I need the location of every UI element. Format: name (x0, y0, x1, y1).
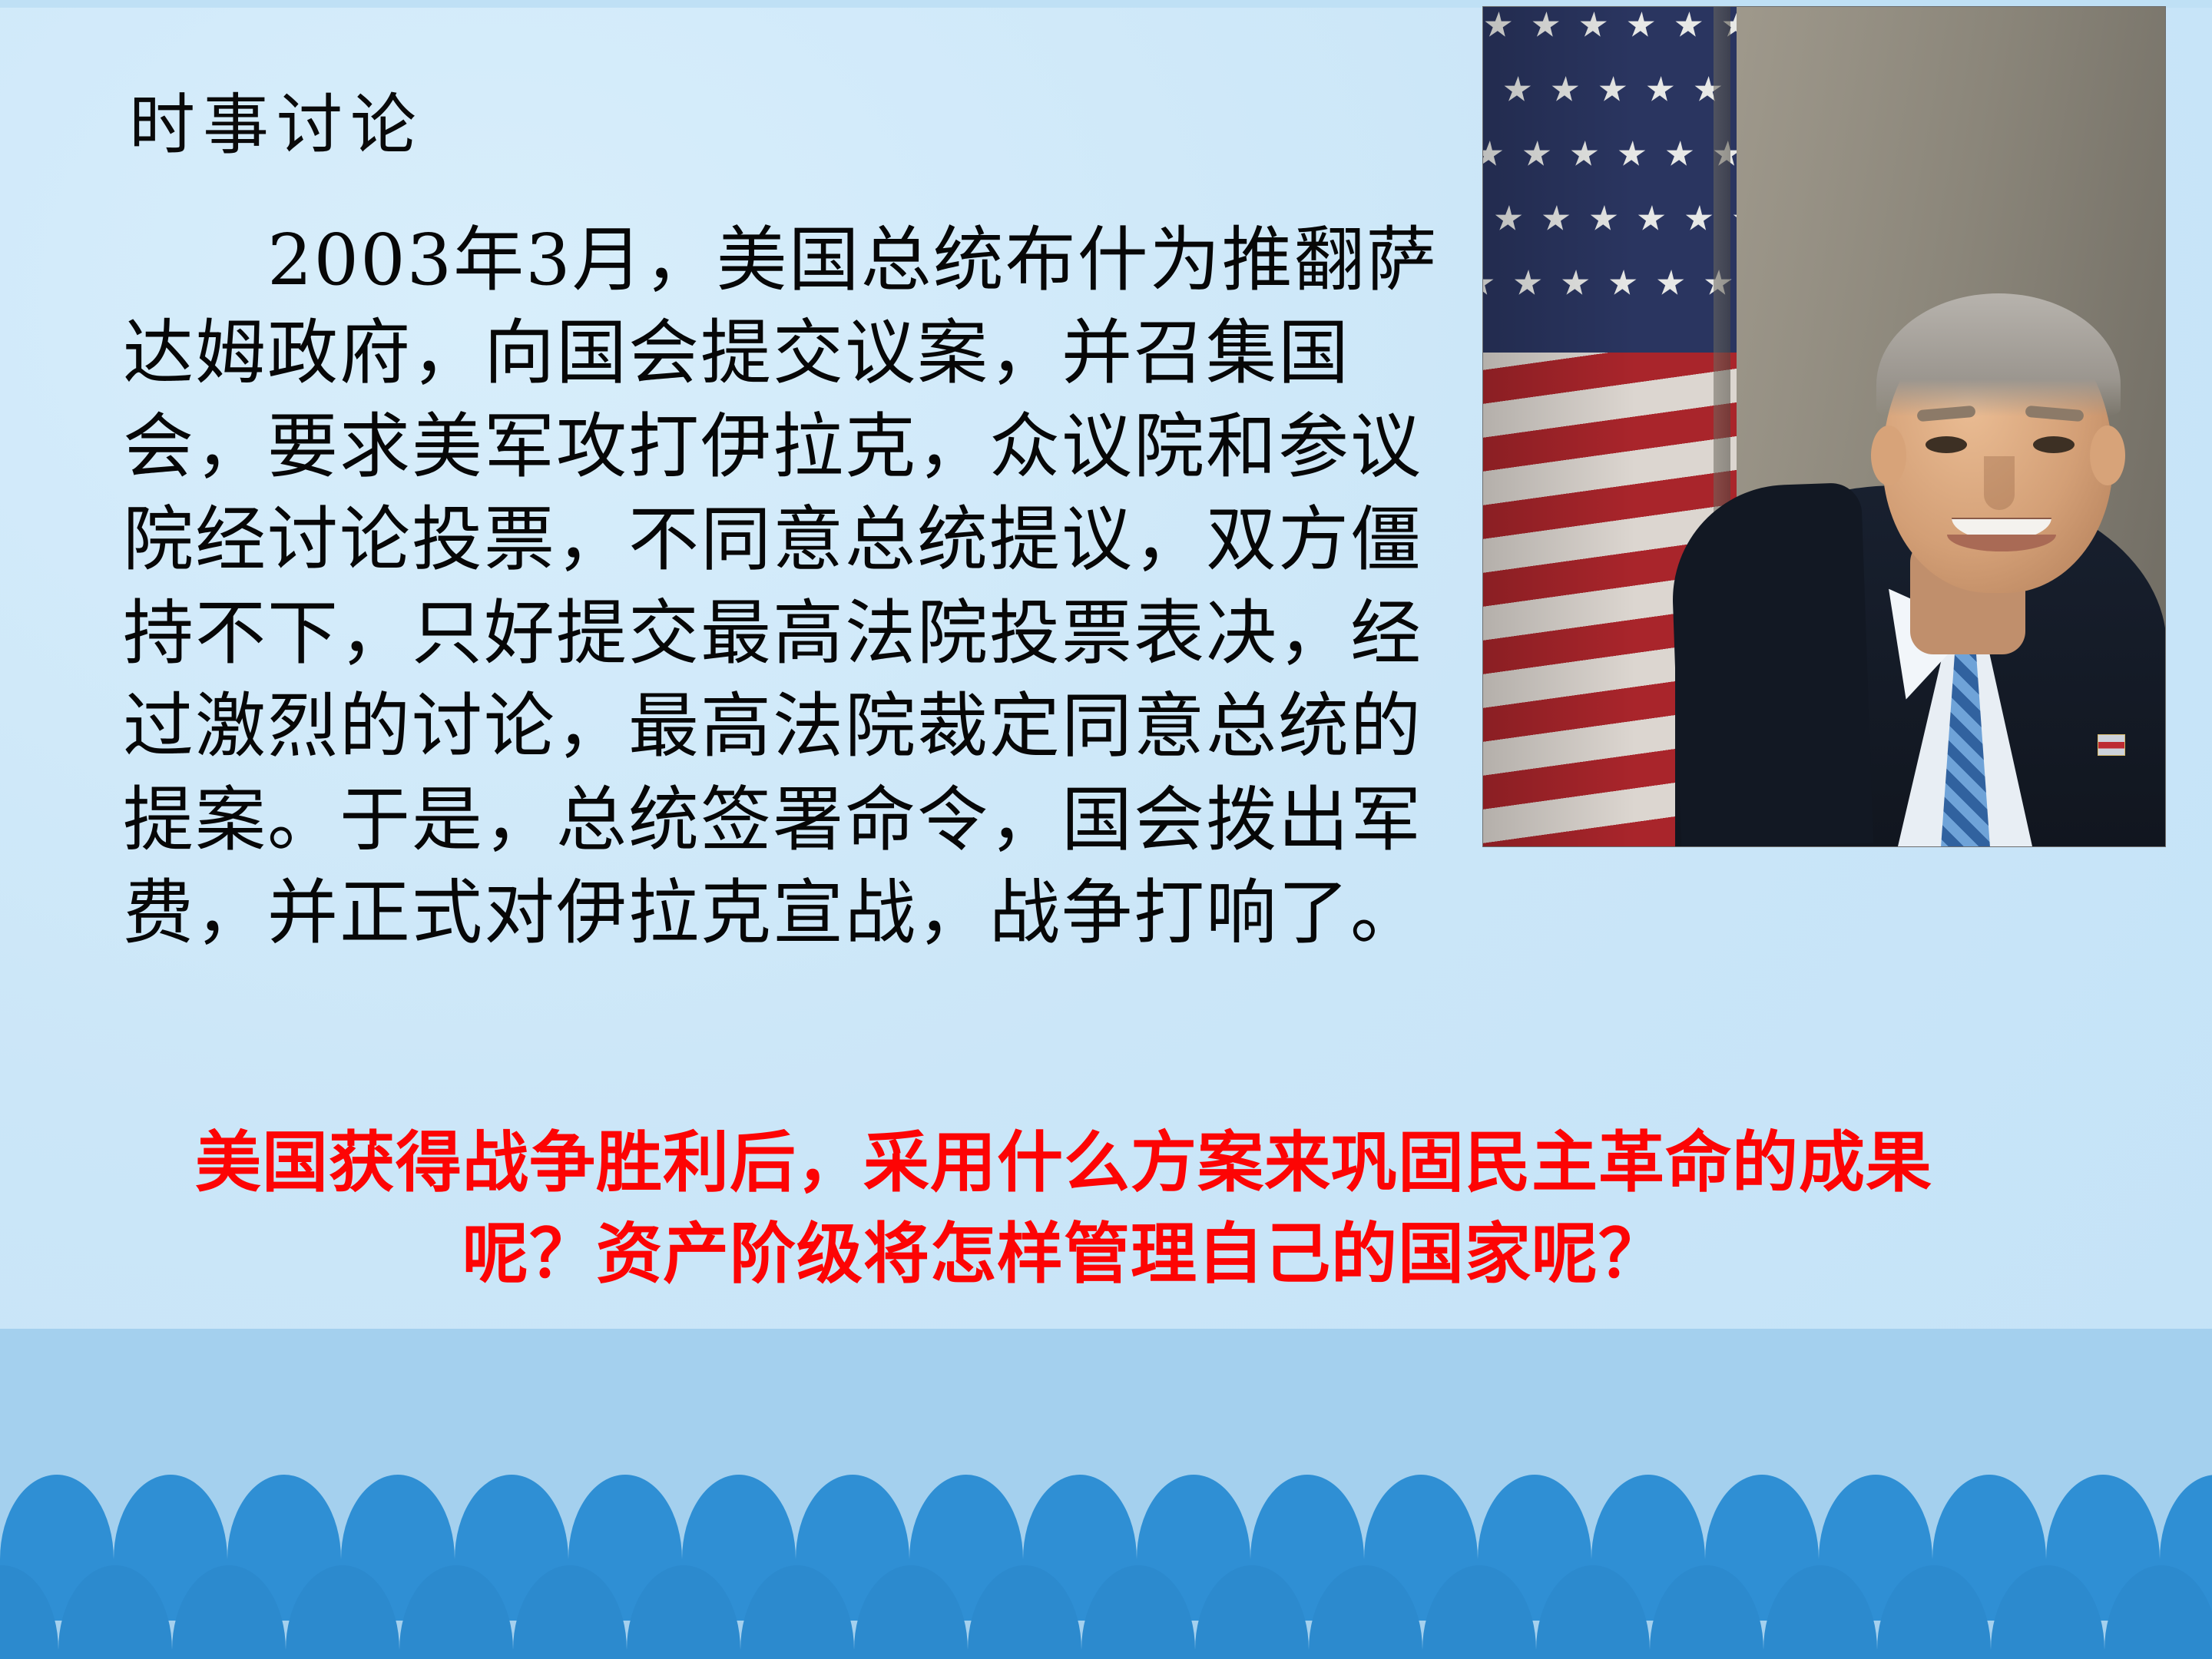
bottom-decoration (0, 1329, 2212, 1659)
scallop-dome (1309, 1565, 1422, 1659)
scallop-dome (1536, 1565, 1650, 1659)
scallop-dome (399, 1565, 513, 1659)
scallop-dome (1877, 1565, 1991, 1659)
right-ear (2090, 426, 2125, 485)
scallop-row-front (0, 1565, 2212, 1659)
scallop-dome (0, 1565, 58, 1659)
bush-portrait-photo (1482, 6, 2166, 847)
discussion-question: 美国获得战争胜利后，采用什么方案来巩固民主革命的成果呢？资产阶级将怎样管理自己的… (161, 1118, 1966, 1300)
scallop-dome (286, 1565, 399, 1659)
flag-lapel-pin-icon (2098, 734, 2125, 756)
scallop-dome (854, 1565, 968, 1659)
scallop-dome (740, 1565, 854, 1659)
scallop-dome (2104, 1565, 2212, 1659)
scallop-dome (1195, 1565, 1309, 1659)
scallop-dome (968, 1565, 1081, 1659)
scallop-dome (172, 1565, 286, 1659)
scallop-dome (513, 1565, 627, 1659)
left-eye (1926, 436, 1967, 453)
scallop-dome (58, 1565, 172, 1659)
scallop-dome (1650, 1565, 1763, 1659)
scallop-dome (1991, 1565, 2104, 1659)
scallop-dome (1763, 1565, 1877, 1659)
left-ear (1871, 426, 1906, 485)
body-paragraph: 2003年3月，美国总统布什为推翻萨达姆政府，向国会提交议案，并召集国会，要求美… (123, 214, 1444, 960)
suit-left-lapel (1669, 482, 1873, 847)
nose-shape (1984, 456, 2015, 510)
scallop-dome (627, 1565, 740, 1659)
scallop-dome (1422, 1565, 1536, 1659)
right-eye (2033, 436, 2075, 453)
page-title: 时事讨论 (129, 92, 424, 158)
slide-canvas: 时事讨论 2003年3月，美国总统布什为推翻萨达姆政府，向国会提交议案，并召集国… (0, 0, 2212, 1659)
scallop-dome (1081, 1565, 1195, 1659)
